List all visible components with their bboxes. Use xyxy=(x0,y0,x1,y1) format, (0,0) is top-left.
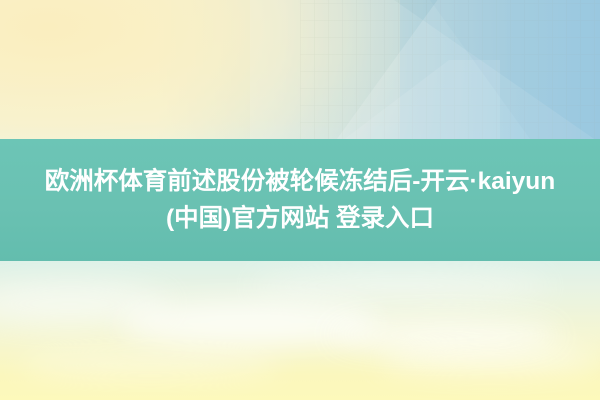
cloud-shape xyxy=(250,272,550,300)
banner-title-line-1: 欧洲杯体育前述股份被轮候冻结后-开云·kaiyun xyxy=(45,163,555,200)
cloud-shape xyxy=(380,344,600,374)
promo-banner: 欧洲杯体育前述股份被轮候冻结后-开云·kaiyun (中国)官方网站 登录入口 xyxy=(0,0,600,400)
cloud-shape xyxy=(20,352,280,378)
banner-title-line-2: (中国)官方网站 登录入口 xyxy=(166,200,434,237)
title-band: 欧洲杯体育前述股份被轮候冻结后-开云·kaiyun (中国)官方网站 登录入口 xyxy=(0,139,600,261)
